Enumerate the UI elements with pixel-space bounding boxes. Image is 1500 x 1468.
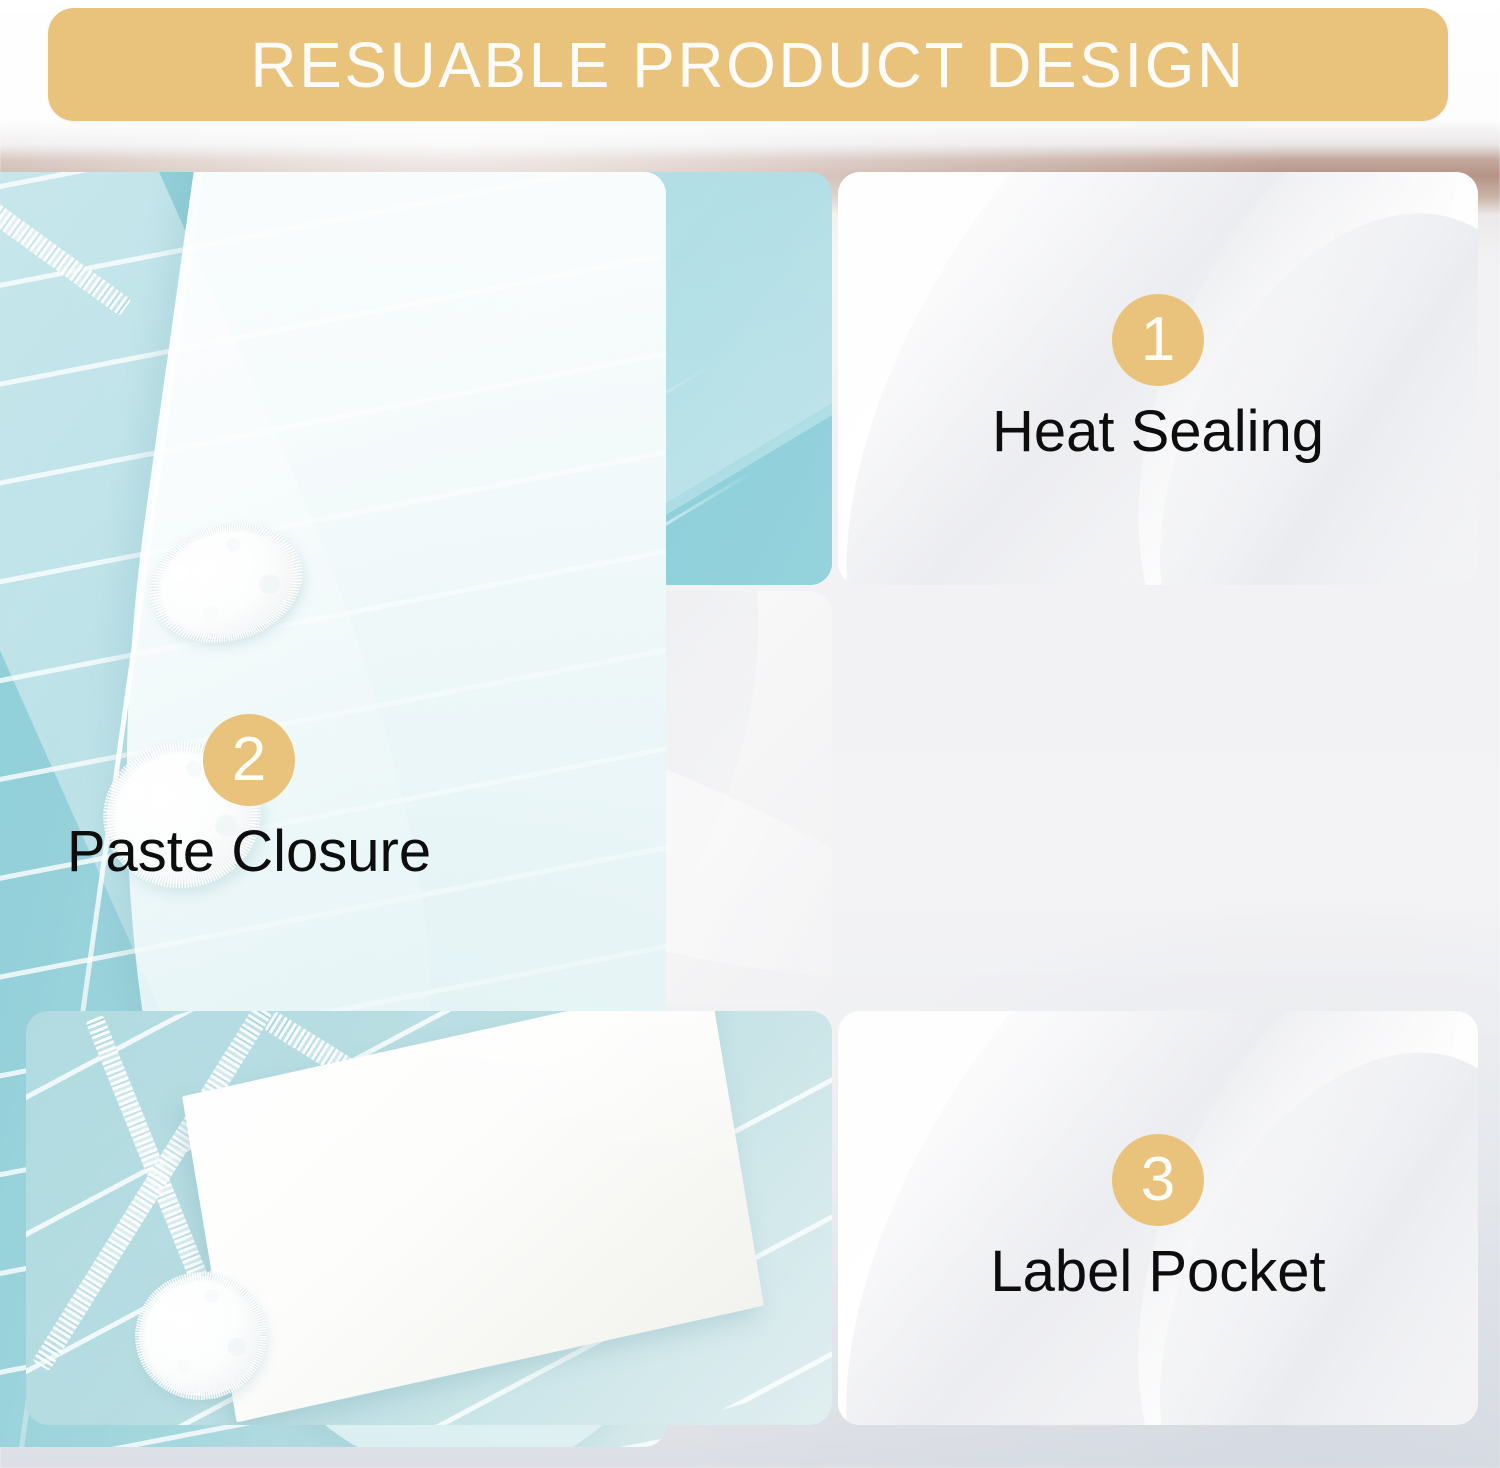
infographic-page: RESUABLE PRODUCT DESIGN 1: [0, 0, 1500, 1468]
step-number-badge-2: 2: [203, 714, 295, 806]
label-pocket-photo: [26, 1011, 832, 1425]
step-number-badge-3: 3: [1112, 1134, 1204, 1226]
banner-title: RESUABLE PRODUCT DESIGN: [250, 33, 1245, 97]
step-label-3: Label Pocket: [990, 1242, 1325, 1303]
header-banner: RESUABLE PRODUCT DESIGN: [48, 8, 1448, 121]
step-label-1: Heat Sealing: [992, 402, 1324, 463]
step-card-3: 3 Label Pocket: [838, 1011, 1478, 1425]
step-card-1: 1 Heat Sealing: [838, 172, 1478, 585]
velcro-closure-photo-slot: [838, 591, 1478, 1005]
step-label-2: Paste Closure: [67, 822, 431, 883]
step-caption-2: 2 Paste Closure: [67, 714, 431, 883]
step-caption-3: 3 Label Pocket: [990, 1134, 1325, 1303]
panel-grid: 1 Heat Sealing 2 Paste Closure: [26, 172, 1478, 1447]
step-caption-1: 1 Heat Sealing: [992, 294, 1324, 463]
step-number-badge-1: 1: [1112, 294, 1204, 386]
